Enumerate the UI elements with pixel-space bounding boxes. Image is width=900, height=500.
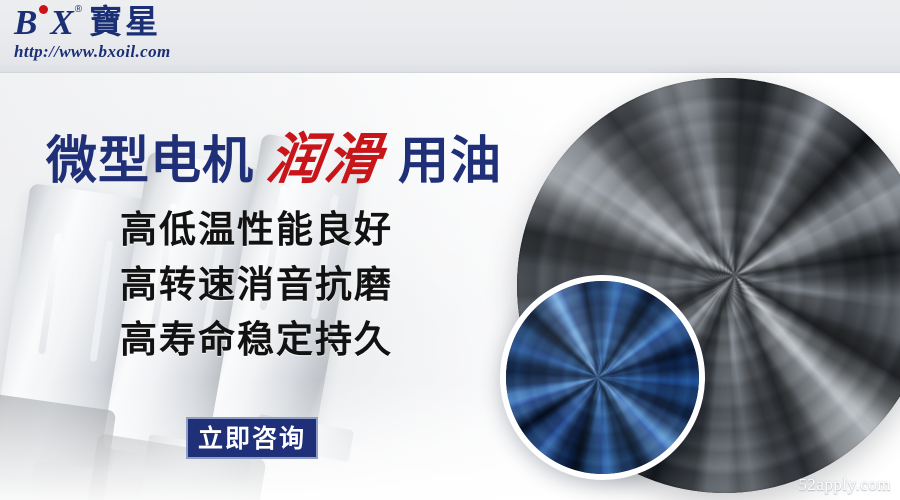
feature-item: 高低温性能良好	[120, 211, 393, 248]
blue-grease-image	[500, 275, 705, 480]
headline: 微型电机 润滑 用油	[46, 132, 502, 187]
headline-part-1: 微型电机	[46, 136, 254, 187]
feature-item: 高转速消音抗磨	[120, 266, 393, 303]
feature-item: 高寿命稳定持久	[120, 321, 393, 358]
consult-now-button[interactable]: 立即咨询	[186, 417, 318, 459]
consult-now-label: 立即咨询	[198, 426, 306, 451]
brand-website-url[interactable]: http://www.bxoil.com	[14, 42, 284, 62]
registered-trademark-icon: ®	[75, 5, 82, 15]
logo-dot-icon	[39, 5, 48, 14]
brand-logo[interactable]: B X ® 寶星 http://www.bxoil.com	[14, 5, 284, 62]
site-watermark: 52apply.com	[798, 475, 891, 495]
headline-part-2: 用油	[398, 136, 502, 187]
logo-letter-x: X	[50, 5, 73, 40]
promo-banner: B X ® 寶星 http://www.bxoil.com 微型电机 润滑 用油…	[0, 0, 900, 500]
feature-list: 高低温性能良好 高转速消音抗磨 高寿命稳定持久	[120, 211, 393, 376]
headline-highlight: 润滑	[264, 132, 386, 187]
logo-chinese-name: 寶星	[89, 5, 161, 40]
product-image-group	[500, 60, 900, 500]
logo-letter-b: B	[14, 5, 37, 40]
logo-wordmark-row: B X ® 寶星	[14, 5, 284, 40]
blue-grease-highlight	[500, 275, 705, 480]
